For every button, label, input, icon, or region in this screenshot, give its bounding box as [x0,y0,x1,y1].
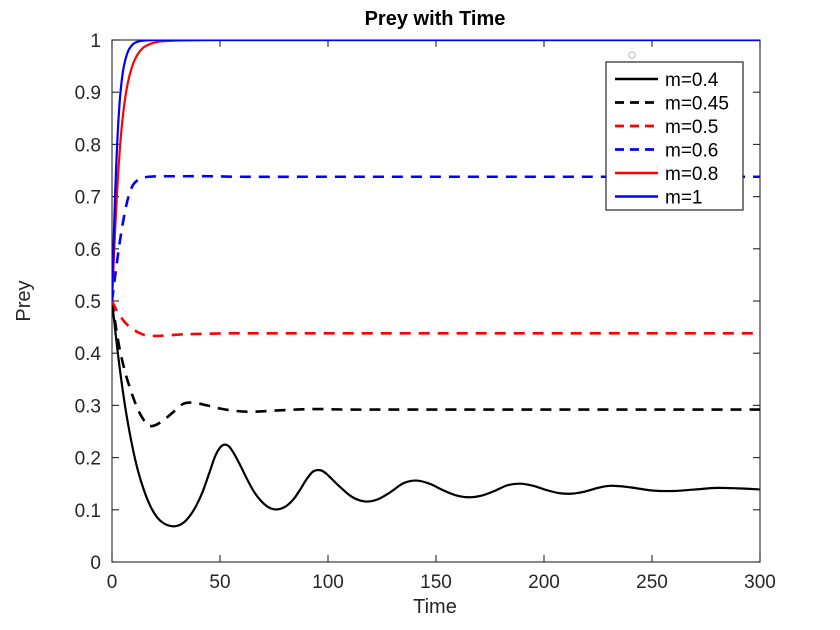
legend-label-m-0-5: m=0.5 [665,117,718,138]
legend-label-m-1: m=1 [665,188,703,209]
data-curve-m-0-45 [112,301,760,426]
chart-title-group: Prey with Time [365,8,506,30]
x-tick-label: 50 [209,572,230,593]
y-tick-label: 0.4 [75,344,102,365]
y-tick-label: 0.6 [75,240,101,261]
legend-anchor-marker-icon [629,52,635,58]
y-tick-label: 0.2 [75,449,101,470]
figure-container: Prey with Time 050100150200250300 00.10.… [0,0,840,630]
y-tick-label: 0.8 [75,135,101,156]
legend-label-m-0-8: m=0.8 [665,164,718,185]
y-tick-label: 0.7 [75,188,101,209]
x-tick-label: 100 [312,572,344,593]
y-tick-label: 0.1 [75,501,101,522]
prey-with-time-chart: Prey with Time 050100150200250300 00.10.… [0,0,840,630]
x-tick-label: 200 [528,572,560,593]
legend[interactable]: m=0.4m=0.45m=0.5m=0.6m=0.8m=1 [606,62,743,210]
y-axis-title: Prey [13,280,35,321]
legend-label-m-0-6: m=0.6 [665,141,718,162]
x-axis-title: Time [413,596,457,618]
data-curve-m-0-5 [112,301,760,336]
data-curve-m-0-4 [112,301,760,526]
x-tick-label: 0 [107,572,118,593]
legend-label-m-0-4: m=0.4 [665,70,719,91]
y-tick-label: 1 [90,31,101,52]
x-tick-label: 300 [744,572,776,593]
y-tick-label: 0 [90,553,101,574]
y-tick-label: 0.9 [75,83,101,104]
x-tick-label: 250 [636,572,668,593]
y-tick-label: 0.5 [75,292,101,313]
legend-label-m-0-45: m=0.45 [665,94,729,115]
x-tick-label: 150 [420,572,452,593]
chart-title: Prey with Time [365,8,506,30]
y-tick-label: 0.3 [75,396,101,417]
